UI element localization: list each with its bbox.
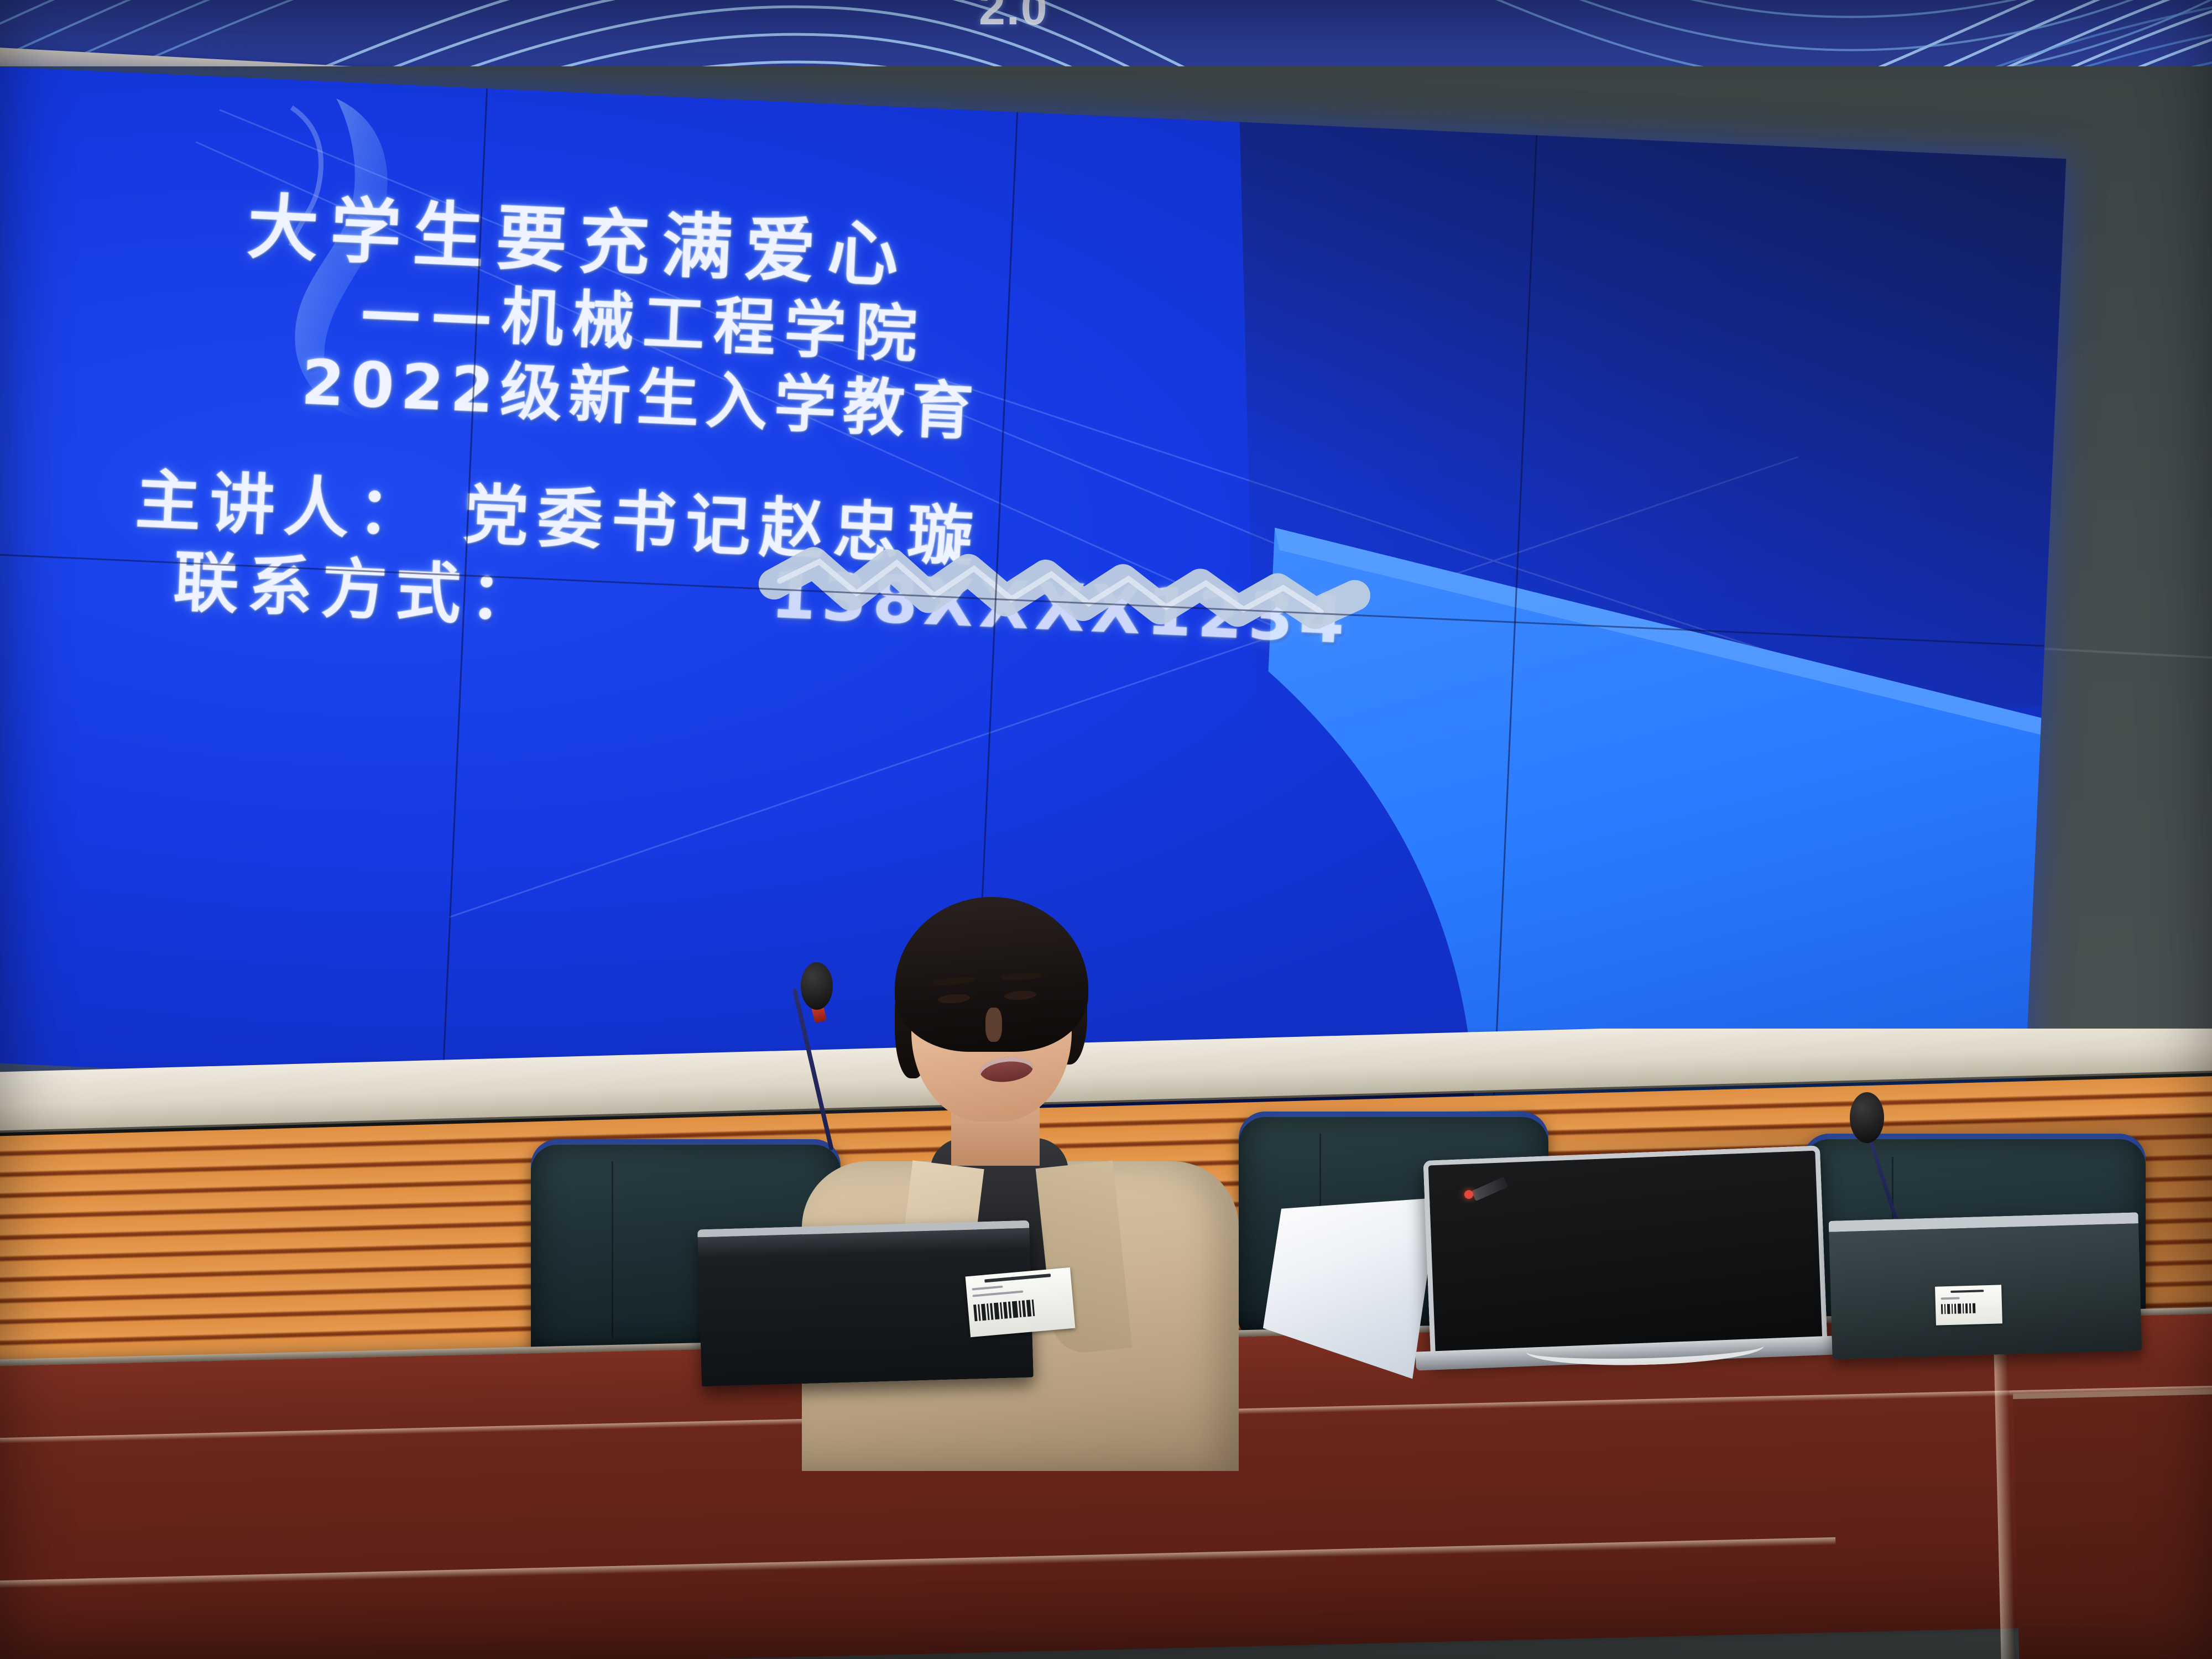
conference-mic-capsule-icon [1850,1092,1884,1143]
asset-barcode-label [966,1267,1076,1337]
microphone-capsule-icon [801,962,833,1010]
conference-hall-scene: 2.0 [0,0,2212,1659]
barcode-icon [1941,1302,1997,1314]
slide-contact-value: 138XXXX1234 [769,556,1352,659]
nose [985,1008,1002,1042]
conference-mic-asset-label [1935,1285,2002,1325]
desk-right-panel [2013,1388,2212,1659]
panel-version-text: 2.0 [979,0,1048,36]
thinkpad-logo-dot-icon [1464,1190,1473,1199]
slide-contact-label: 联系方式： [172,529,546,640]
barcode-icon [973,1295,1068,1322]
laptop-lid [1423,1145,1827,1359]
